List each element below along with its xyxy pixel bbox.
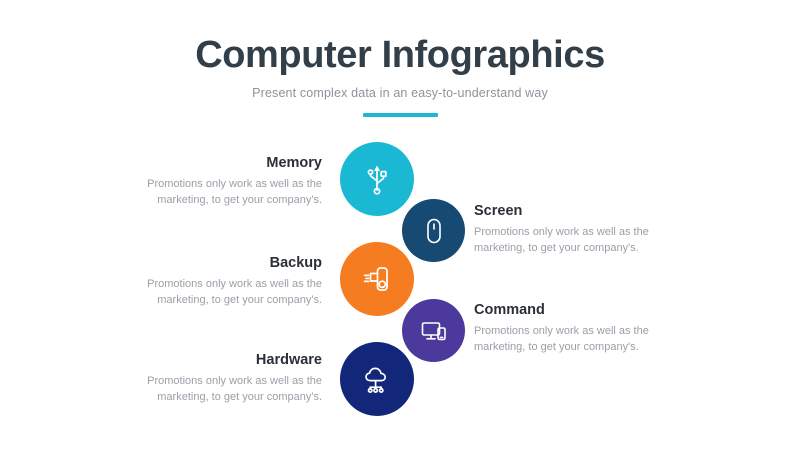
accent-divider [363,113,438,117]
item-body-command: Promotions only work as well as the mark… [474,324,686,356]
item-body-screen: Promotions only work as well as the mark… [474,225,686,257]
item-body-hardware: Promotions only work as well as the mark… [110,374,322,406]
item-body-backup: Promotions only work as well as the mark… [110,277,322,309]
usb-icon [359,161,395,197]
item-circle-hardware[interactable] [340,342,414,416]
computer-mouse-icon [419,216,449,246]
item-text-screen: Screen Promotions only work as well as t… [474,203,686,257]
item-label-command: Command [474,302,686,319]
item-label-memory: Memory [110,155,322,172]
item-text-hardware: Hardware Promotions only work as well as… [110,352,322,406]
item-circle-backup[interactable] [340,242,414,316]
cloud-network-icon [358,360,396,398]
item-text-command: Command Promotions only work as well as … [474,302,686,356]
item-label-backup: Backup [110,255,322,272]
item-label-hardware: Hardware [110,352,322,369]
header: Computer Infographics Present complex da… [0,34,800,117]
infographic-slide: Computer Infographics Present complex da… [0,0,800,450]
page-title: Computer Infographics [0,34,800,77]
page-subtitle: Present complex data in an easy-to-under… [0,86,800,100]
item-text-memory: Memory Promotions only work as well as t… [110,155,322,209]
monitor-mobile-icon [418,315,450,347]
item-body-memory: Promotions only work as well as the mark… [110,177,322,209]
item-circle-screen[interactable] [402,199,465,262]
item-circle-memory[interactable] [340,142,414,216]
item-label-screen: Screen [474,203,686,220]
item-circle-command[interactable] [402,299,465,362]
item-text-backup: Backup Promotions only work as well as t… [110,255,322,309]
data-backup-icon [359,261,395,297]
